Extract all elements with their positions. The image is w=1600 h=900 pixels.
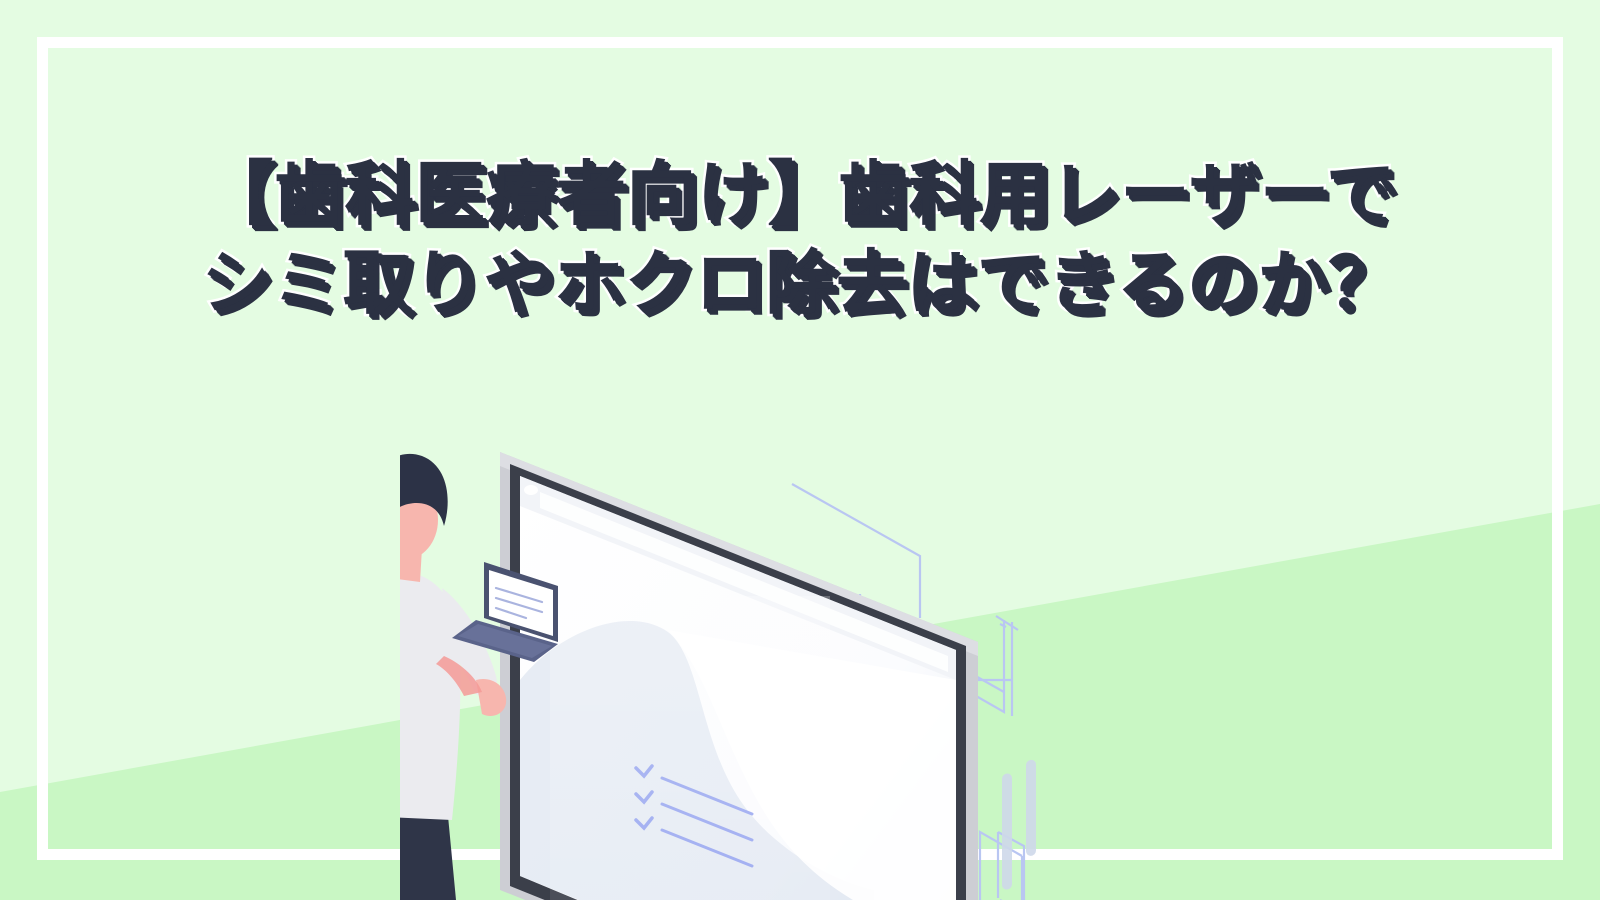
page-title: 【歯科医療者向け】歯科用レーザーで シミ取りやホクロ除去はできるのか？ xyxy=(0,150,1600,328)
browser-dot-icon xyxy=(524,485,538,495)
glass-overlay-panel xyxy=(550,596,830,900)
bar-chart-marks-icon xyxy=(1002,760,1036,890)
person-pants xyxy=(400,810,456,900)
eyecatch-image: 【歯科医療者向け】歯科用レーザーで シミ取りやホクロ除去はできるのか？ xyxy=(0,0,1600,900)
hero-illustration xyxy=(400,380,1200,900)
title-line-1: 【歯科医療者向け】歯科用レーザーで xyxy=(0,150,1600,239)
title-line-2: シミ取りやホクロ除去はできるのか？ xyxy=(0,239,1600,328)
